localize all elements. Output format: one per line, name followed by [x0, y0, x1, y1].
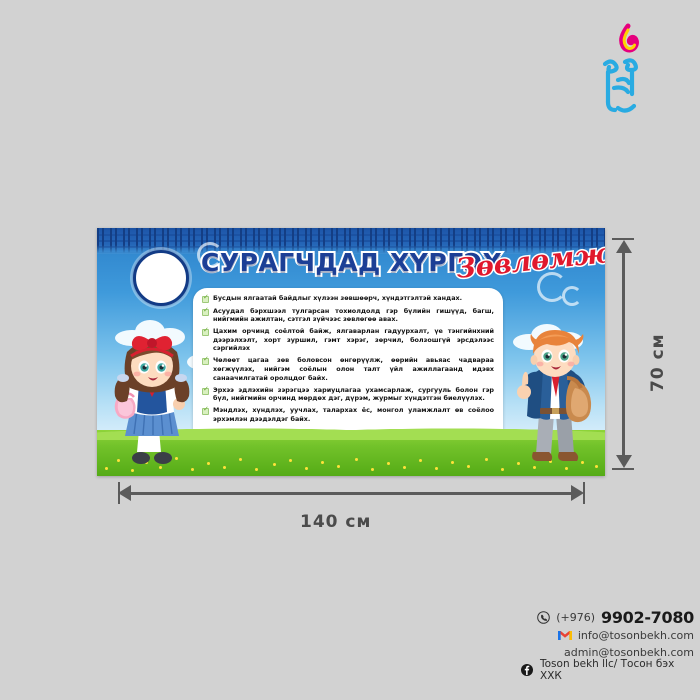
list-item: Эрхээ эдлэхийн зэрэгцээ хариуцлагаа ухам… [202, 386, 494, 403]
dim-width-label: 140 см [300, 512, 371, 532]
bullet-text: Цахим орчинд соёлтой байж, ялгаварлан га… [213, 327, 494, 353]
list-item: Цахим орчинд соёлтой байж, ялгаварлан га… [202, 327, 494, 353]
check-icon [202, 296, 209, 303]
bullet-text: Бусдын ялгаатай байдлыг хүлээн зөвшөөрч,… [213, 294, 494, 303]
contact-facebook-row: Toson bekh llc/ Тосон бэх ХХК [498, 661, 694, 679]
banner-title: СУРАГЧДАД ХҮРГЭХ Зөвлөмж [201, 242, 591, 288]
character-schoolgirl [103, 322, 201, 472]
phone-number[interactable]: 9902-7080 [601, 608, 694, 627]
dim-line-horizontal [126, 492, 576, 495]
dim-tick-bottom [612, 468, 634, 470]
cloud-swirl-3 [562, 286, 582, 306]
check-icon [202, 388, 209, 395]
dim-line-vertical [622, 248, 625, 460]
contact-email-row-1: info@tosonbekh.com [498, 627, 694, 644]
bullet-text: Эрхээ эдлэхийн зэрэгцээ хариуцлагаа ухам… [213, 386, 494, 403]
dim-height-label: 70 см [648, 333, 668, 392]
schoolgirl-svg [103, 322, 201, 472]
list-item: Асуудал бэрхшээл тулгарсан тохиолдолд гэ… [202, 307, 494, 324]
list-item: Бусдын ялгаатай байдлыг хүлээн зөвшөөрч,… [202, 294, 494, 303]
schoolboy-svg [509, 322, 601, 472]
phone-prefix: (+976) [556, 611, 595, 624]
list-item: Чөлөөт цагаа зөв боловсон өнгөрүүлж, өөр… [202, 356, 494, 382]
check-icon [202, 309, 209, 316]
dim-arrow-left [118, 485, 131, 501]
contact-block: (+976) 9902-7080 info@tosonbekh.com admi… [498, 608, 694, 679]
logo-svg [592, 22, 648, 126]
contact-phone-row: (+976) 9902-7080 [498, 608, 694, 627]
dim-arrow-right [571, 485, 584, 501]
facebook-page-name[interactable]: Toson bekh llc/ Тосон бэх ХХК [540, 658, 694, 682]
check-icon [202, 408, 209, 415]
banner-title-script: Зөвлөмж [455, 238, 605, 285]
phone-icon [536, 611, 550, 625]
banner-preview: СУРАГЧДАД ХҮРГЭХ Зөвлөмж Бусдын ялгаатай… [97, 228, 605, 476]
logo-placeholder-circle [133, 250, 189, 306]
company-logo [592, 22, 648, 126]
dim-arrow-top [616, 240, 632, 253]
dim-arrow-bottom [616, 455, 632, 468]
character-schoolboy [509, 322, 601, 472]
check-icon [202, 358, 209, 365]
facebook-icon [520, 663, 534, 677]
email-primary[interactable]: info@tosonbekh.com [578, 629, 694, 642]
bullet-text: Чөлөөт цагаа зөв боловсон өнгөрүүлж, өөр… [213, 356, 494, 382]
gmail-icon [558, 629, 572, 643]
bullet-text: Асуудал бэрхшээл тулгарсан тохиолдолд гэ… [213, 307, 494, 324]
check-icon [202, 329, 209, 336]
